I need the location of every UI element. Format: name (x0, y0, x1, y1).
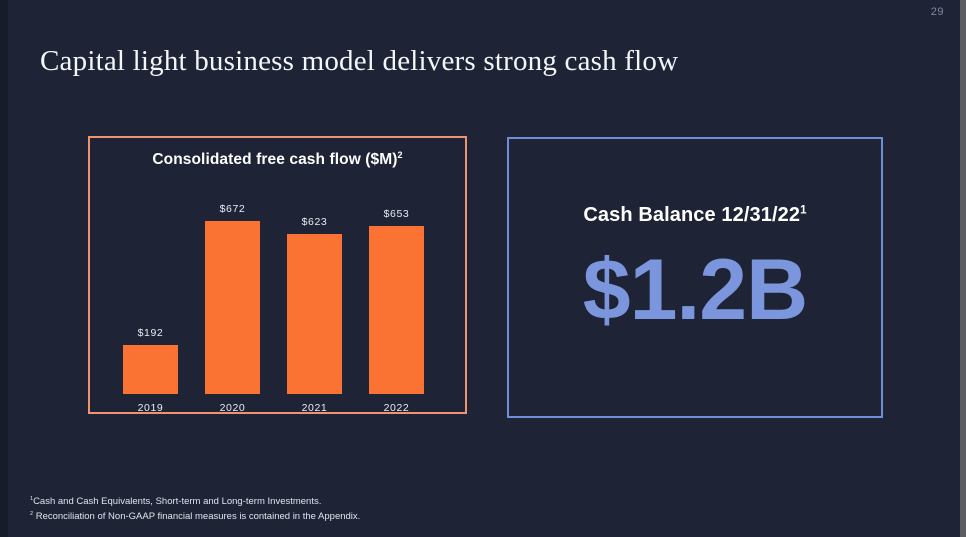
chart-title-footnote-marker: 2 (398, 150, 403, 160)
footnotes: 1Cash and Cash Equivalents, Short-term a… (30, 494, 360, 525)
bar-category-label: 2022 (369, 402, 424, 414)
free-cash-flow-chart-panel: Consolidated free cash flow ($M)2 $19220… (88, 136, 467, 414)
bar-column: $192 (123, 186, 178, 394)
bar-value-label: $653 (384, 208, 410, 220)
bar-value-label: $192 (138, 327, 164, 339)
bar-column: $623 (287, 186, 342, 394)
left-edge-strip (0, 0, 8, 537)
slide-canvas: 29 Capital light business model delivers… (0, 0, 966, 537)
bar-rect (205, 221, 260, 394)
cash-balance-label: Cash Balance 12/31/221 (509, 204, 881, 227)
page-number: 29 (931, 6, 944, 18)
cash-balance-label-text: Cash Balance 12/31/22 (583, 204, 800, 226)
bar-rect (287, 234, 342, 394)
bar-category-label: 2020 (205, 402, 260, 414)
bar-value-label: $623 (302, 216, 328, 228)
bar-rect (123, 345, 178, 394)
bar-column: $672 (205, 186, 260, 394)
bar-column: $653 (369, 186, 424, 394)
chart-title-text: Consolidated free cash flow ($M) (152, 151, 397, 168)
bar-category-label: 2019 (123, 402, 178, 414)
cash-balance-panel: Cash Balance 12/31/221 $1.2B (507, 137, 883, 418)
footnote-line: 2 Reconciliation of Non-GAAP financial m… (30, 509, 360, 525)
right-edge-strip (960, 0, 966, 537)
cash-balance-amount: $1.2B (509, 247, 881, 333)
bar-chart-plot-area: $1922019$6722020$6232021$6532022 (90, 186, 465, 416)
footnote-text: Cash and Cash Equivalents, Short-term an… (33, 496, 321, 507)
page-title: Capital light business model delivers st… (40, 45, 678, 78)
footnote-text: Reconciliation of Non-GAAP financial mea… (33, 511, 360, 522)
cash-balance-footnote-marker: 1 (800, 203, 807, 216)
chart-title: Consolidated free cash flow ($M)2 (90, 151, 465, 169)
bar-category-label: 2021 (287, 402, 342, 414)
bar-rect (369, 226, 424, 394)
footnote-line: 1Cash and Cash Equivalents, Short-term a… (30, 494, 360, 510)
bar-value-label: $672 (220, 203, 246, 215)
